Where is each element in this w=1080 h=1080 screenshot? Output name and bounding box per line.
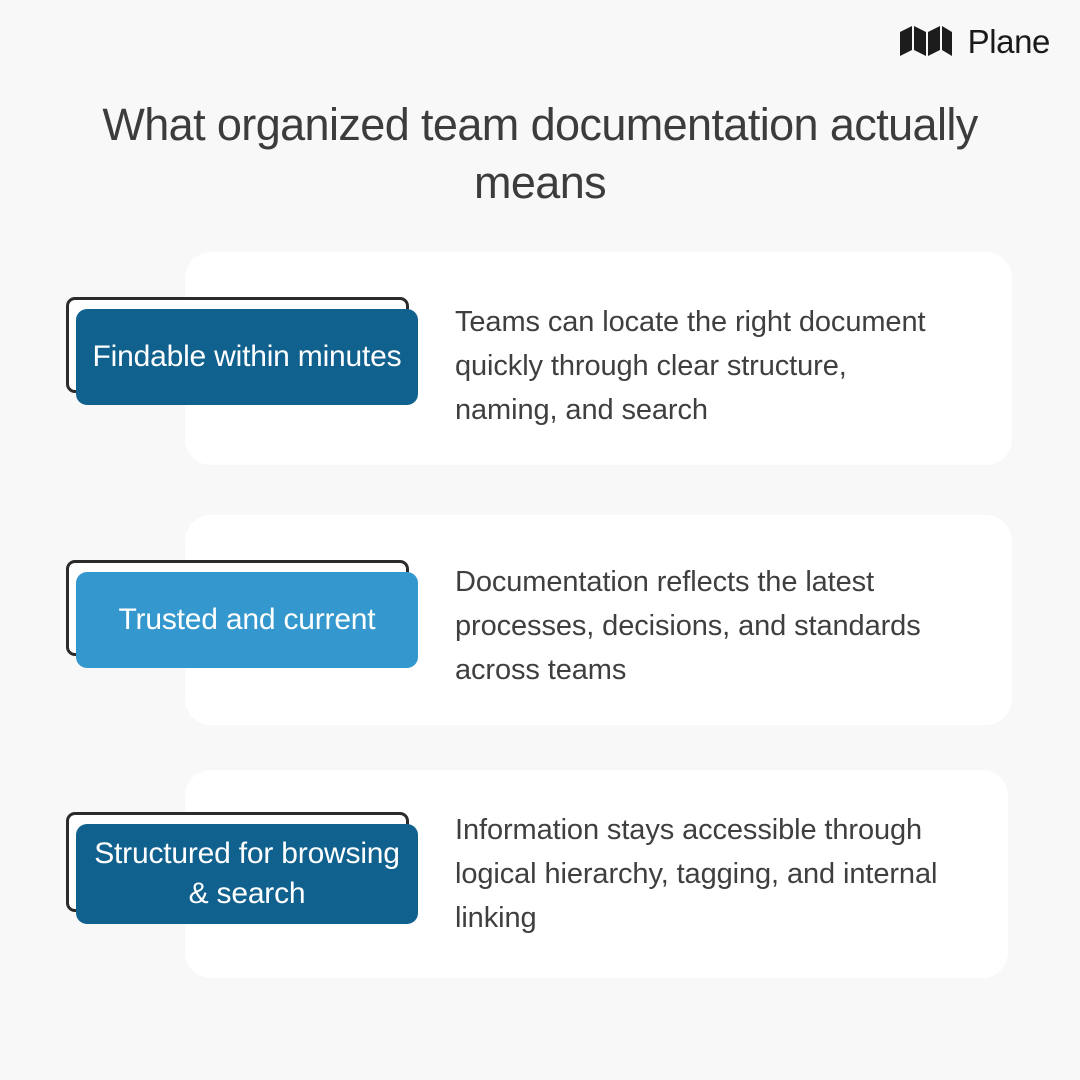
- list-item: Trusted and current Documentation reflec…: [0, 515, 1080, 725]
- badge-2[interactable]: Trusted and current: [66, 560, 418, 668]
- page-title: What organized team documentation actual…: [90, 96, 990, 211]
- plane-logo-icon: [898, 24, 954, 58]
- description-text: Documentation reflects the latest proces…: [455, 560, 955, 692]
- badge-fill: Findable within minutes: [76, 309, 418, 405]
- infographic-page: Plane What organized team documentation …: [0, 0, 1080, 1080]
- list-item: Structured for browsing & search Informa…: [0, 770, 1080, 978]
- badge-1[interactable]: Findable within minutes: [66, 297, 418, 405]
- list-item: Findable within minutes Teams can locate…: [0, 252, 1080, 465]
- badge-label: Structured for browsing & search: [76, 834, 418, 914]
- feature-list: Findable within minutes Teams can locate…: [0, 252, 1080, 978]
- badge-3[interactable]: Structured for browsing & search: [66, 812, 418, 924]
- description-text: Information stays accessible through log…: [455, 808, 955, 940]
- brand-name: Plane: [968, 25, 1050, 58]
- badge-label: Findable within minutes: [83, 337, 412, 377]
- description-text: Teams can locate the right document quic…: [455, 300, 945, 432]
- badge-label: Trusted and current: [109, 600, 386, 640]
- badge-fill: Structured for browsing & search: [76, 824, 418, 924]
- badge-fill: Trusted and current: [76, 572, 418, 668]
- brand-logo: Plane: [898, 24, 1050, 58]
